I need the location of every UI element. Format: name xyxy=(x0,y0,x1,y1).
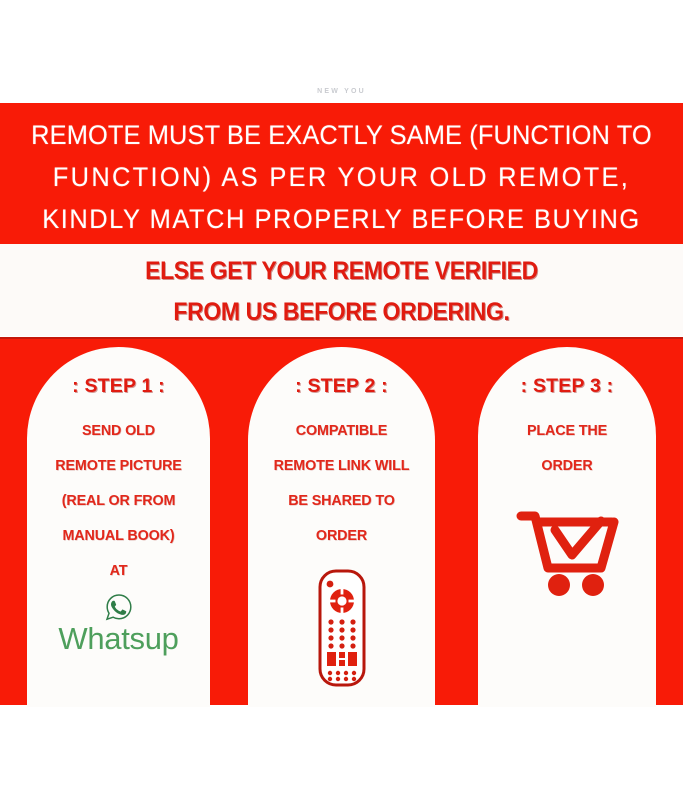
step-2-line-4: ORDER xyxy=(248,519,435,554)
step-1-line-1: SEND OLD xyxy=(27,414,210,449)
step-2-line-1: COMPATIBLE xyxy=(248,414,435,449)
brand-header: NEW YOU xyxy=(0,80,683,98)
brand-name: NEW YOU xyxy=(317,88,366,95)
whatsapp-icon xyxy=(104,592,134,622)
steps-panel: : STEP 1 : SEND OLD REMOTE PICTURE (REAL… xyxy=(0,337,683,705)
warning-line-1: REMOTE MUST BE EXACTLY SAME (FUNCTION TO xyxy=(31,114,652,156)
warning-banner: REMOTE MUST BE EXACTLY SAME (FUNCTION TO… xyxy=(0,103,683,244)
step-2-body: COMPATIBLE REMOTE LINK WILL BE SHARED TO… xyxy=(248,414,435,554)
step-1-line-3: (REAL OR FROM xyxy=(27,484,210,519)
step-2-line-3: BE SHARED TO xyxy=(248,484,435,519)
step-2-line-2: REMOTE LINK WILL xyxy=(248,449,435,484)
verify-line-2: FROM US BEFORE ORDERING. xyxy=(27,292,655,333)
whatsapp-label: Whatsup xyxy=(27,621,210,657)
step-3-line-1: PLACE THE xyxy=(478,414,656,449)
step-1-line-2: REMOTE PICTURE xyxy=(27,449,210,484)
warning-line-3: KINDLY MATCH PROPERLY BEFORE BUYING xyxy=(31,198,652,240)
shopping-cart-check-icon xyxy=(515,506,619,598)
step-column-2: : STEP 2 : COMPATIBLE REMOTE LINK WILL B… xyxy=(248,347,435,707)
verify-notice: ELSE GET YOUR REMOTE VERIFIED FROM US BE… xyxy=(0,244,683,336)
step-1-line-5: AT xyxy=(27,554,210,589)
step-column-3: : STEP 3 : PLACE THE ORDER xyxy=(478,347,656,707)
step-3-body: PLACE THE ORDER xyxy=(478,414,656,484)
step-1-title: : STEP 1 : xyxy=(27,375,210,398)
step-column-1: : STEP 1 : SEND OLD REMOTE PICTURE (REAL… xyxy=(27,347,210,707)
step-2-title: : STEP 2 : xyxy=(248,375,435,398)
step-1-body: SEND OLD REMOTE PICTURE (REAL OR FROM MA… xyxy=(27,414,210,589)
step-1-line-4: MANUAL BOOK) xyxy=(27,519,210,554)
remote-control-icon xyxy=(316,568,368,688)
warning-line-2: FUNCTION) AS PER YOUR OLD REMOTE, xyxy=(31,156,652,198)
step-3-title: : STEP 3 : xyxy=(478,375,656,398)
promo-image: NEW YOU REMOTE MUST BE EXACTLY SAME (FUN… xyxy=(0,0,683,800)
whatsapp-contact-block: Whatsup xyxy=(27,592,210,657)
step-3-line-2: ORDER xyxy=(478,449,656,484)
verify-line-1: ELSE GET YOUR REMOTE VERIFIED xyxy=(27,251,655,292)
